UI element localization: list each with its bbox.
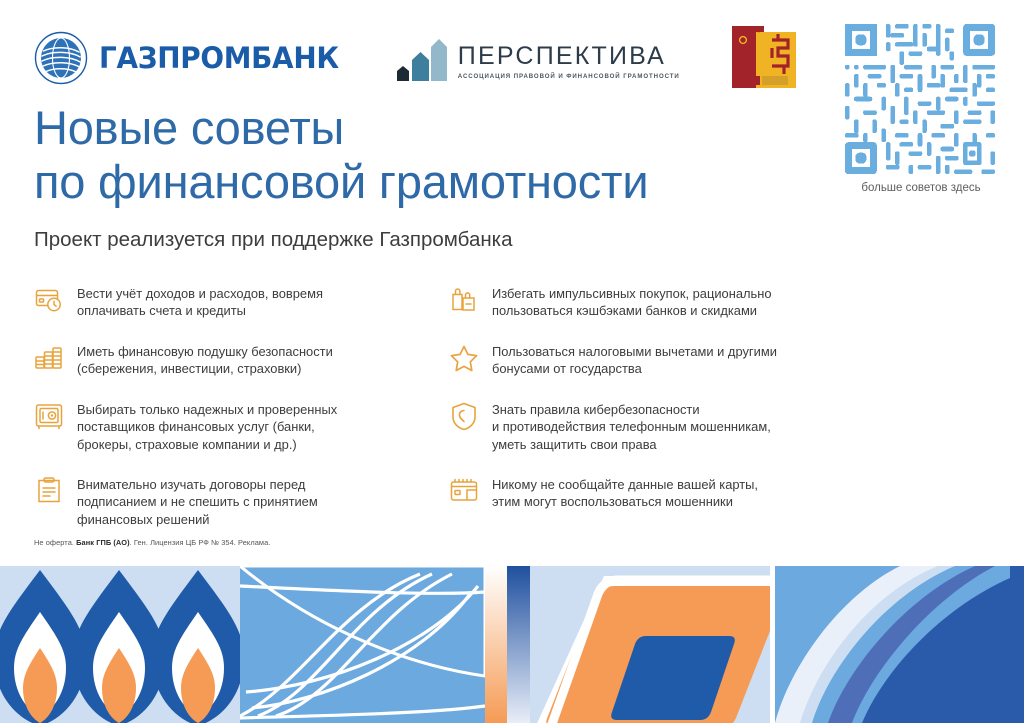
tip-item: Вести учёт доходов и расходов, вовремя о… [34,284,449,342]
safe-vault-icon [34,401,64,431]
tip-text: Никому не сообщайте данные вашей карты, … [492,475,758,511]
tip-item: Иметь финансовую подушку безопасности (с… [34,342,449,400]
tip-item: Знать правила кибербезопасности и против… [449,400,864,475]
tip-text: Вести учёт доходов и расходов, вовремя о… [77,284,323,320]
banner-orange-gradient-strip [485,566,507,723]
perspektiva-tagline: АССОЦИАЦИЯ ПРАВОВОЙ И ФИНАНСОВОЙ ГРАМОТН… [458,73,680,80]
gazprombank-wordmark: ГАЗПРОМБАНК [99,41,339,75]
banner-curves-panel [240,566,485,723]
gazprombank-logo: ГАЗПРОМБАНК [34,31,349,85]
center-profiles-maze-logo-icon [726,22,800,94]
gazprombank-globe-logo-icon [34,31,88,85]
perspektiva-wordmark: ПЕРСПЕКТИВА [458,42,666,70]
tip-item: Никому не сообщайте данные вашей карты, … [449,475,864,550]
qr-block[interactable]: больше советов здесь [845,24,997,194]
tip-text: Иметь финансовую подушку безопасности (с… [77,342,333,378]
tip-text: Знать правила кибербезопасности и против… [492,400,771,453]
banner-swoosh-panel [775,566,1024,723]
banner-blue-gradient-strip [507,566,530,723]
disclaimer-suffix: . Ген. Лицензия ЦБ РФ № 354. Реклама. [130,538,271,547]
tip-text: Пользоваться налоговыми вычетами и други… [492,342,777,378]
page-subtitle: Проект реализуется при поддержке Газпром… [34,228,513,252]
tip-item: Выбирать только надежных и проверенных п… [34,400,449,475]
tips-grid: Вести учёт доходов и расходов, вовремя о… [34,284,864,550]
qr-caption: больше советов здесь [845,182,997,194]
tip-text: Выбирать только надежных и проверенных п… [77,400,337,453]
shopping-bags-icon [449,285,479,315]
disclaimer-bank-name: Банк ГПБ (АО) [76,538,129,547]
legal-disclaimer: Не оферта. Банк ГПБ (АО). Ген. Лицензия … [34,538,270,547]
banner-orange-shape-panel [530,566,786,723]
qr-code-icon[interactable] [845,24,995,174]
wallet-card-icon [449,476,479,506]
perspektiva-text-block: ПЕРСПЕКТИВА АССОЦИАЦИЯ ПРАВОВОЙ И ФИНАНС… [458,44,680,81]
perspektiva-logo: ПЕРСПЕКТИВА АССОЦИАЦИЯ ПРАВОВОЙ И ФИНАНС… [397,35,680,81]
perspektiva-bars-logo-icon [397,35,449,81]
page-title: Новые советы по финансовой грамотности [34,101,648,208]
star-icon [449,343,479,373]
shield-icon [449,401,479,431]
credit-card-clock-icon [34,285,64,315]
tip-text: Внимательно изучать договоры перед подпи… [77,475,318,528]
tip-item: Пользоваться налоговыми вычетами и други… [449,342,864,400]
logo-row: ГАЗПРОМБАНК ПЕРСПЕКТИВА АССОЦИАЦИЯ ПРАВО… [34,22,800,94]
disclaimer-prefix: Не оферта. [34,538,76,547]
coin-stacks-icon [34,343,64,373]
tip-text: Избегать импульсивных покупок, рациональ… [492,284,772,320]
poster-root: ГАЗПРОМБАНК ПЕРСПЕКТИВА АССОЦИАЦИЯ ПРАВО… [0,0,1024,723]
contract-document-icon [34,476,64,506]
decorative-gazprombank-pattern-banner-icon [0,566,1024,723]
banner-flames-panel [0,566,244,723]
tip-item: Избегать импульсивных покупок, рациональ… [449,284,864,342]
